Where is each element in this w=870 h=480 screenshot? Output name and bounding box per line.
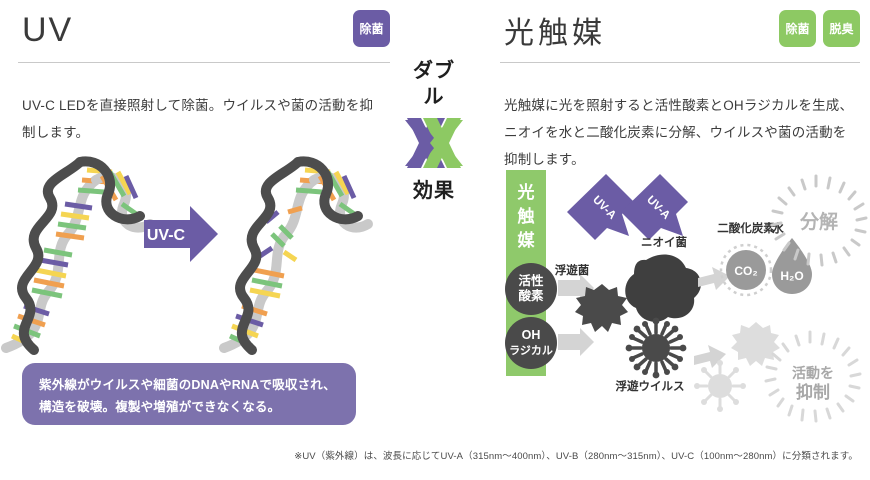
co2-symbol: CO₂ xyxy=(734,264,757,278)
shape-deactivated-virus xyxy=(694,360,746,412)
shape-deactivated-bacteria xyxy=(731,322,780,366)
uv-caption-box: 紫外線がウイルスや細菌のDNAやRNAで吸収され、 構造を破壊。複製や増殖ができ… xyxy=(22,363,356,425)
uv-panel-header: UV 除菌 xyxy=(18,0,390,62)
uv-badge-group: 除菌 xyxy=(353,10,390,47)
active-oxygen-line-2: 酸素 xyxy=(518,288,544,303)
oh-radical-line-1: OH xyxy=(522,328,541,342)
uv-c-arrow: UV-C xyxy=(144,206,218,262)
dna-damaged xyxy=(224,161,368,350)
node-oh-radical: OH ラジカル xyxy=(505,317,557,369)
dna-illustration: UV-C xyxy=(4,160,370,350)
oh-radical-line-2: ラジカル xyxy=(509,344,553,357)
pc-panel-header: 光触媒 除菌 脱臭 xyxy=(500,0,860,62)
uv-a-ray-1: UV-A xyxy=(567,174,634,240)
label-odor-bacteria: ニオイ菌 xyxy=(641,235,687,249)
dna-svg: UV-C xyxy=(4,160,370,350)
center-top-word: ダブル xyxy=(404,58,464,110)
uv-panel-description: UV-C LEDを直接照射して除菌。ウイルスや菌の活動を抑制します。 xyxy=(22,92,374,146)
badge-sterilization: 除菌 xyxy=(779,10,816,47)
center-divider: ダブル 効果 xyxy=(404,58,464,204)
uv-caption-line-2: 構造を破壊。複製や増殖ができなくなる。 xyxy=(39,396,339,418)
active-oxygen-line-1: 活性 xyxy=(518,273,544,288)
x-cross-mark-icon xyxy=(405,116,463,170)
pc-header-divider xyxy=(500,62,860,63)
shape-odor-bacteria xyxy=(625,254,701,321)
suppress-label-line-1: 活動を xyxy=(792,365,834,381)
outcome-suppress-activity: 活動を 抑制 xyxy=(766,332,860,421)
shape-floating-virus xyxy=(626,318,687,379)
label-floating-virus: 浮遊ウイルス xyxy=(616,379,685,393)
badge-sterilization: 除菌 xyxy=(353,10,390,47)
h2o-symbol: H₂O xyxy=(780,269,803,283)
shape-h2o-droplet: H₂O xyxy=(772,238,812,294)
pc-panel-title: 光触媒 xyxy=(504,12,606,56)
label-carbon-dioxide: 二酸化炭素 xyxy=(717,221,775,235)
label-floating-bacteria: 浮遊菌 xyxy=(555,263,590,277)
node-active-oxygen: 活性 酸素 xyxy=(505,263,557,315)
uv-c-arrow-label: UV-C xyxy=(147,227,186,244)
column-label-char-2: 触 xyxy=(518,206,535,226)
photocatalyst-svg: 光 触 媒 UV-A UV-A 活性 酸素 OH xyxy=(498,170,870,432)
shape-co2: CO₂ xyxy=(721,245,771,295)
pc-panel-description: 光触媒に光を照射すると活性酸素とOHラジカルを生成、ニオイを水と二酸化炭素に分解… xyxy=(504,92,856,173)
uv-header-divider xyxy=(18,62,390,63)
uv-a-ray-2: UV-A xyxy=(621,174,688,240)
column-label-char-1: 光 xyxy=(517,182,535,202)
footnote: ※UV（紫外線）は、波長に応じてUV-A（315nm〜400nm）、UV-B（2… xyxy=(0,448,858,462)
dna-intact xyxy=(6,161,150,350)
infographic-root: UV 除菌 UV-C LEDを直接照射して除菌。ウイルスや菌の活動を抑制します。 xyxy=(0,0,870,480)
uv-caption-line-1: 紫外線がウイルスや細菌のDNAやRNAで吸収され、 xyxy=(39,374,339,396)
uv-panel-title: UV xyxy=(22,8,73,52)
decompose-label: 分解 xyxy=(799,210,838,233)
photocatalyst-diagram: 光 触 媒 UV-A UV-A 活性 酸素 OH xyxy=(498,170,870,432)
column-label-char-3: 媒 xyxy=(518,230,536,250)
center-bottom-word: 効果 xyxy=(404,178,464,204)
pc-badge-group: 除菌 脱臭 xyxy=(779,10,860,47)
badge-deodorization: 脱臭 xyxy=(823,10,860,47)
suppress-label-line-2: 抑制 xyxy=(796,382,830,402)
